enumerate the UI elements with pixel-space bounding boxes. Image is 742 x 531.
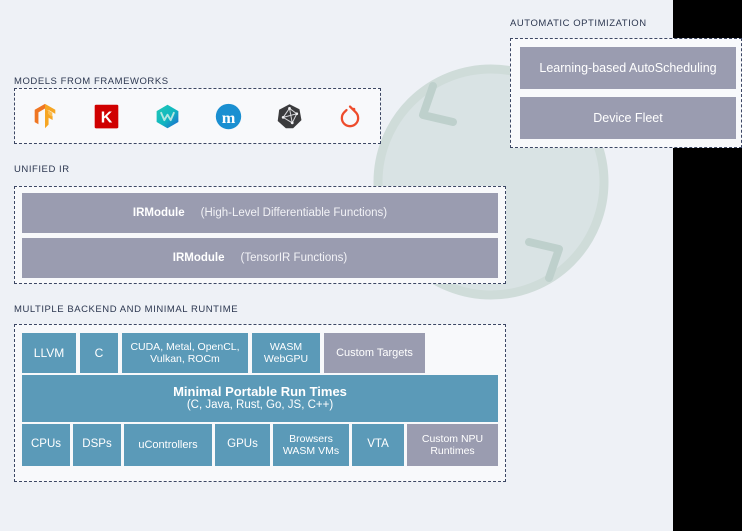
target-llvm: LLVM [22, 333, 76, 373]
section-label-backend: MULTIPLE BACKEND AND MINIMAL RUNTIME [14, 304, 238, 315]
device-label: VTA [367, 438, 389, 452]
device-custom-npu-runtimes: Custom NPU Runtimes [407, 424, 498, 466]
device-browsers-wasm-vms: Browsers WASM VMs [273, 424, 349, 466]
ir-row-name: IRModule [173, 252, 225, 264]
device-label: Custom NPU Runtimes [422, 433, 483, 458]
ir-row-detail: (TensorIR Functions) [241, 252, 348, 264]
device-label: CPUs [31, 438, 61, 452]
auto-opt-label: Learning-based AutoScheduling [539, 61, 716, 76]
mxnet-m-icon: m [211, 99, 245, 133]
target-c: C [80, 333, 118, 373]
auto-opt-learning-based-autoscheduling: Learning-based AutoScheduling [520, 47, 736, 89]
target-custom-targets: Custom Targets [324, 333, 425, 373]
runtime-title: Minimal Portable Run Times [173, 384, 347, 399]
section-label-unified-ir: UNIFIED IR [14, 164, 70, 175]
target-gpu-apis: CUDA, Metal, OpenCL, Vulkan, ROCm [122, 333, 248, 373]
ir-row-name: IRModule [133, 207, 185, 219]
section-label-automatic-optimization: AUTOMATIC OPTIMIZATION [510, 18, 647, 29]
device-label: uControllers [138, 439, 197, 452]
target-label: Custom Targets [336, 347, 413, 360]
target-label: LLVM [34, 346, 64, 360]
device-dsps: DSPs [73, 424, 121, 466]
runtime-subtitle: (C, Java, Rust, Go, JS, C++) [187, 399, 333, 413]
device-label: DSPs [82, 438, 111, 452]
minimal-portable-runtimes: Minimal Portable Run Times (C, Java, Rus… [22, 375, 498, 422]
keras-icon: K [89, 99, 123, 133]
target-label: C [95, 346, 104, 360]
ir-row-detail: (High-Level Differentiable Functions) [201, 207, 387, 219]
target-label: WASM WebGPU [264, 341, 308, 366]
mxnet-cube-icon [150, 99, 184, 133]
device-label: GPUs [227, 438, 258, 452]
ir-row-high-level: IRModule (High-Level Differentiable Func… [22, 193, 498, 233]
svg-text:K: K [100, 108, 112, 126]
device-label: Browsers WASM VMs [283, 433, 339, 458]
device-vta: VTA [352, 424, 404, 466]
section-label-models: MODELS FROM FRAMEWORKS [14, 76, 169, 87]
device-ucontrollers: uControllers [124, 424, 212, 466]
target-label: CUDA, Metal, OpenCL, Vulkan, ROCm [130, 341, 239, 366]
auto-opt-device-fleet: Device Fleet [520, 97, 736, 139]
target-wasm-webgpu: WASM WebGPU [252, 333, 320, 373]
device-gpus: GPUs [215, 424, 270, 466]
device-cpus: CPUs [22, 424, 70, 466]
models-panel [14, 88, 381, 144]
pytorch-icon [333, 99, 367, 133]
svg-text:m: m [221, 107, 235, 126]
tensorflow-icon [28, 99, 62, 133]
ir-row-tensorir: IRModule (TensorIR Functions) [22, 238, 498, 278]
auto-opt-label: Device Fleet [593, 111, 662, 126]
onnx-icon [272, 99, 306, 133]
diagram-canvas: MODELS FROM FRAMEWORKS K [0, 0, 742, 531]
